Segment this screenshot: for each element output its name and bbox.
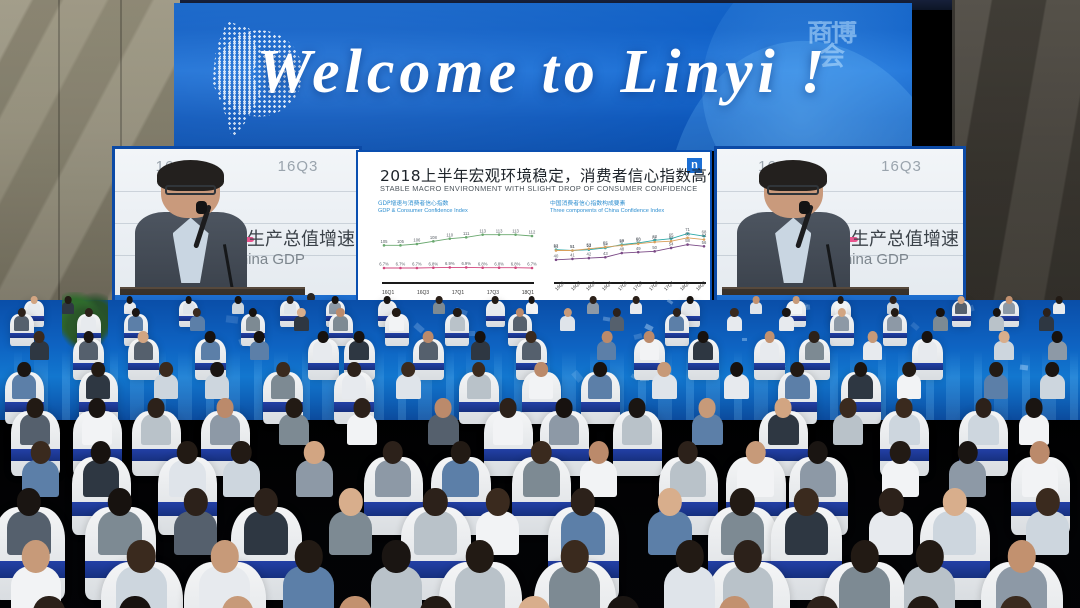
audience-member-head bbox=[718, 596, 751, 608]
audience-member-head bbox=[33, 596, 66, 608]
chair-sash bbox=[445, 333, 469, 339]
audience-member-head bbox=[764, 331, 775, 343]
audience-member-head bbox=[516, 308, 524, 318]
audience-member bbox=[244, 488, 288, 555]
audience-member-torso bbox=[640, 341, 659, 360]
audience-member-head bbox=[472, 362, 486, 378]
audience-member bbox=[984, 362, 1008, 399]
audience-member-head bbox=[31, 296, 38, 304]
microphone-icon bbox=[799, 201, 810, 214]
audience-member-torso bbox=[1048, 341, 1067, 360]
audience-member-torso bbox=[669, 316, 684, 331]
glasses-icon bbox=[767, 185, 819, 195]
audience-member-torso bbox=[244, 511, 288, 555]
audience-member bbox=[640, 331, 659, 360]
pane-subtitle-cn: GDP增速与消费者信心指数 bbox=[378, 198, 538, 207]
gdp-label-en: China GDP bbox=[229, 252, 355, 268]
audience-member-head bbox=[159, 362, 173, 378]
banner-title: Welcome to Linyi ! bbox=[174, 37, 912, 108]
audience-member bbox=[271, 362, 295, 399]
audience-member-torso bbox=[760, 341, 779, 360]
audience-member-torso bbox=[329, 511, 373, 555]
audience-member-head bbox=[347, 362, 361, 378]
audience-member-torso bbox=[333, 316, 348, 331]
audience-member bbox=[232, 296, 244, 314]
audience-member-torso bbox=[342, 374, 366, 399]
audience-member bbox=[669, 308, 684, 331]
audience-member-head bbox=[485, 488, 509, 516]
audience-member-head bbox=[879, 488, 903, 516]
audience-member bbox=[760, 331, 779, 360]
audience-member-torso bbox=[848, 374, 872, 399]
audience-member bbox=[785, 362, 809, 399]
audience-member-head bbox=[127, 540, 155, 573]
audience-member-torso bbox=[190, 316, 205, 331]
audience-member-head bbox=[383, 441, 404, 465]
audience-member-head bbox=[466, 540, 494, 573]
audience-member bbox=[894, 596, 953, 608]
audience-member-torso bbox=[1003, 302, 1015, 314]
audience-member-head bbox=[687, 296, 694, 304]
svg-text:112: 112 bbox=[529, 230, 536, 235]
audience-member-torso bbox=[349, 341, 368, 360]
audience-member-head bbox=[922, 331, 933, 343]
audience-member-head bbox=[837, 296, 844, 304]
audience-member-head bbox=[205, 331, 216, 343]
chair-sash bbox=[883, 333, 907, 339]
audience-member bbox=[833, 398, 863, 444]
audience-member-head bbox=[338, 488, 362, 516]
svg-text:64: 64 bbox=[702, 233, 707, 238]
audience-member-head bbox=[423, 331, 434, 343]
audience-member bbox=[471, 331, 490, 360]
audience-member bbox=[296, 441, 333, 497]
audience-member-head bbox=[420, 596, 453, 608]
chair-sash bbox=[688, 363, 719, 370]
audience-member bbox=[887, 308, 902, 331]
audience-member-head bbox=[210, 362, 224, 378]
audience-member bbox=[692, 398, 722, 444]
audience-member-head bbox=[382, 540, 410, 573]
audience-member bbox=[805, 331, 824, 360]
microphone-icon bbox=[196, 201, 207, 214]
audience-member bbox=[294, 308, 309, 331]
audience-member bbox=[549, 398, 579, 444]
audience-member-head bbox=[453, 308, 461, 318]
audience-member-torso bbox=[296, 460, 333, 497]
audience-member-torso bbox=[727, 316, 742, 331]
audience-member-head bbox=[83, 331, 94, 343]
pane-subtitle-en: Three components of China Confidence Ind… bbox=[550, 208, 710, 214]
audience-member bbox=[208, 596, 267, 608]
audience-member-torso bbox=[467, 374, 491, 399]
audience-member bbox=[933, 308, 948, 331]
audience-member-torso bbox=[622, 414, 652, 445]
audience-member-head bbox=[791, 362, 805, 378]
audience-member bbox=[994, 331, 1013, 360]
audience-member bbox=[989, 308, 1004, 331]
audience-member bbox=[987, 596, 1046, 608]
audience-member bbox=[727, 308, 742, 331]
audience-member-torso bbox=[493, 414, 523, 445]
audience-member-head bbox=[138, 331, 149, 343]
audience-member-torso bbox=[28, 302, 40, 314]
audience-member-torso bbox=[128, 316, 143, 331]
audience-seating bbox=[0, 278, 1080, 608]
audience-member bbox=[1003, 296, 1015, 314]
audience-member bbox=[968, 398, 998, 444]
audience-member bbox=[313, 331, 332, 360]
audience-member bbox=[529, 362, 553, 399]
audience-member-head bbox=[17, 488, 41, 516]
audience-member bbox=[513, 308, 528, 331]
audience-member bbox=[375, 441, 412, 497]
audience-member bbox=[30, 331, 49, 360]
audience-member-torso bbox=[897, 374, 921, 399]
audience-member-head bbox=[254, 331, 265, 343]
audience-member-head bbox=[528, 296, 535, 304]
audience-member bbox=[329, 488, 373, 555]
audience-member-head bbox=[1052, 331, 1063, 343]
chair-sash bbox=[754, 363, 785, 370]
svg-text:6.8%: 6.8% bbox=[478, 261, 488, 266]
audience-member-head bbox=[1043, 308, 1051, 318]
chair-sash bbox=[613, 449, 662, 461]
audience-member-torso bbox=[134, 341, 153, 360]
audience-member-head bbox=[231, 441, 252, 465]
audience-member bbox=[705, 596, 764, 608]
audience-member bbox=[28, 296, 40, 314]
audience-member-head bbox=[185, 296, 192, 304]
audience-member bbox=[201, 331, 220, 360]
audience-member bbox=[389, 308, 404, 331]
audience-member-head bbox=[17, 362, 31, 378]
audience-member-torso bbox=[587, 302, 599, 314]
audience-member-head bbox=[401, 362, 415, 378]
audience-member-head bbox=[613, 308, 621, 318]
audience-member-head bbox=[588, 441, 609, 465]
svg-text:51: 51 bbox=[570, 244, 575, 249]
quarter-label: 16Q3 bbox=[278, 158, 319, 175]
svg-text:61: 61 bbox=[652, 236, 657, 241]
audience-member-head bbox=[958, 296, 965, 304]
audience-member-torso bbox=[81, 316, 96, 331]
audience-member-torso bbox=[1039, 316, 1054, 331]
audience-member bbox=[587, 296, 599, 314]
welcome-banner: 商博会 Welcome to Linyi ! bbox=[174, 3, 912, 151]
audience-member bbox=[597, 331, 616, 360]
audience-member-head bbox=[91, 362, 105, 378]
audience-member-head bbox=[808, 441, 829, 465]
audience-member-head bbox=[65, 296, 72, 304]
audience-member bbox=[326, 596, 385, 608]
audience-member-head bbox=[1045, 362, 1059, 378]
audience-member bbox=[1039, 308, 1054, 331]
audience-member-head bbox=[534, 362, 548, 378]
audience-member-head bbox=[297, 308, 305, 318]
audience-member bbox=[523, 441, 560, 497]
audience-member bbox=[20, 398, 50, 444]
audience-member-head bbox=[602, 331, 613, 343]
audience-member bbox=[79, 331, 98, 360]
audience-member-head bbox=[354, 331, 365, 343]
svg-text:42: 42 bbox=[587, 252, 592, 257]
audience-member bbox=[724, 362, 748, 399]
audience-member-head bbox=[907, 596, 940, 608]
audience-member bbox=[793, 596, 852, 608]
audience-member-head bbox=[850, 540, 878, 573]
gdp-cci-plot: 1051051061081101111131131131126.7%6.7%6.… bbox=[378, 218, 538, 284]
svg-text:6.7%: 6.7% bbox=[412, 262, 422, 267]
audience-member bbox=[450, 308, 465, 331]
audience-member-head bbox=[492, 296, 499, 304]
audience-member-head bbox=[531, 441, 552, 465]
audience-member-head bbox=[85, 308, 93, 318]
svg-text:113: 113 bbox=[479, 228, 486, 233]
audience-member-head bbox=[752, 296, 759, 304]
audience-member bbox=[210, 398, 240, 444]
audience-member-torso bbox=[489, 302, 501, 314]
svg-text:110: 110 bbox=[446, 232, 453, 237]
audience-member-torso bbox=[232, 302, 244, 314]
svg-text:41: 41 bbox=[570, 253, 575, 258]
audience-member-torso bbox=[918, 341, 937, 360]
svg-text:43: 43 bbox=[603, 251, 608, 256]
audience-member-torso bbox=[30, 341, 49, 360]
audience-member bbox=[768, 398, 798, 444]
svg-text:6.8%: 6.8% bbox=[429, 261, 439, 266]
audience-member-head bbox=[989, 362, 1003, 378]
audience-member bbox=[1053, 296, 1065, 314]
pane-subtitle-cn: 中国消费者信心指数构成要素 bbox=[550, 198, 710, 207]
audience-member-torso bbox=[1053, 302, 1065, 314]
audience-member bbox=[693, 331, 712, 360]
audience-member-head bbox=[942, 488, 966, 516]
audience-member-torso bbox=[529, 374, 553, 399]
svg-text:66: 66 bbox=[685, 231, 690, 236]
audience-member-head bbox=[891, 308, 899, 318]
audience-member-torso bbox=[887, 316, 902, 331]
audience-member-head bbox=[867, 331, 878, 343]
svg-text:6.9%: 6.9% bbox=[445, 261, 455, 266]
audience-member-torso bbox=[86, 374, 110, 399]
audience-member bbox=[863, 331, 882, 360]
audience-member-head bbox=[1056, 296, 1063, 304]
chair-sash bbox=[952, 316, 971, 321]
audience-member bbox=[20, 596, 79, 608]
audience-member-head bbox=[571, 488, 595, 516]
svg-text:113: 113 bbox=[512, 228, 519, 233]
audience-member-head bbox=[745, 441, 766, 465]
quarter-label: 16Q3 bbox=[881, 158, 922, 175]
audience-member bbox=[407, 596, 466, 608]
audience-member bbox=[433, 296, 445, 314]
audience-member-head bbox=[210, 540, 238, 573]
audience-member bbox=[889, 398, 919, 444]
audience-member-torso bbox=[79, 341, 98, 360]
audience-member-torso bbox=[863, 341, 882, 360]
svg-text:6.7%: 6.7% bbox=[379, 262, 389, 267]
audience-member-head bbox=[916, 540, 944, 573]
audience-member bbox=[560, 308, 575, 331]
audience-member bbox=[750, 296, 762, 314]
svg-text:50: 50 bbox=[652, 245, 657, 250]
audience-member-torso bbox=[14, 316, 29, 331]
audience-member bbox=[428, 398, 458, 444]
audience-member-head bbox=[317, 331, 328, 343]
audience-member bbox=[955, 296, 967, 314]
audience-member-torso bbox=[205, 374, 229, 399]
audience-member-torso bbox=[389, 316, 404, 331]
audience-member-head bbox=[730, 488, 754, 516]
audience-member-head bbox=[734, 540, 762, 573]
audience-member-head bbox=[235, 296, 242, 304]
svg-text:59: 59 bbox=[636, 237, 641, 242]
audience-member-head bbox=[475, 331, 486, 343]
audience-member-head bbox=[633, 296, 640, 304]
audience-member-torso bbox=[313, 341, 332, 360]
audience-member-head bbox=[730, 362, 744, 378]
svg-text:6.8%: 6.8% bbox=[494, 261, 504, 266]
svg-text:57: 57 bbox=[619, 239, 624, 244]
audience-member bbox=[134, 331, 153, 360]
audience-member-torso bbox=[433, 302, 445, 314]
svg-text:58: 58 bbox=[685, 238, 690, 243]
audience-member bbox=[349, 331, 368, 360]
audience-member-torso bbox=[526, 302, 538, 314]
audience-member-head bbox=[854, 362, 868, 378]
audience-member-head bbox=[678, 441, 699, 465]
svg-text:106: 106 bbox=[413, 238, 421, 243]
audience-member-torso bbox=[560, 316, 575, 331]
audience-member-head bbox=[392, 308, 400, 318]
audience-member-torso bbox=[1040, 374, 1064, 399]
chair-sash bbox=[385, 333, 409, 339]
audience-member bbox=[419, 331, 438, 360]
audience-member-torso bbox=[250, 341, 269, 360]
svg-text:108: 108 bbox=[430, 235, 438, 240]
svg-text:6.9%: 6.9% bbox=[461, 261, 471, 266]
audience-member-head bbox=[131, 308, 139, 318]
audience-member-head bbox=[658, 488, 682, 516]
audience-member-head bbox=[221, 596, 254, 608]
audience-member-torso bbox=[750, 302, 762, 314]
audience-member-head bbox=[183, 488, 207, 516]
audience-member bbox=[347, 398, 377, 444]
audience-member-head bbox=[1007, 540, 1035, 573]
audience-member-torso bbox=[834, 316, 849, 331]
audience-member-torso bbox=[294, 316, 309, 331]
audience-member bbox=[779, 308, 794, 331]
audience-member bbox=[684, 296, 696, 314]
audience-member bbox=[1019, 398, 1049, 444]
audience-member-torso bbox=[805, 341, 824, 360]
audience-member-head bbox=[936, 308, 944, 318]
svg-text:56: 56 bbox=[702, 240, 707, 245]
audience-member-torso bbox=[652, 374, 676, 399]
audience-member bbox=[141, 398, 171, 444]
audience-member bbox=[522, 331, 541, 360]
audience-member-torso bbox=[994, 341, 1013, 360]
svg-text:40: 40 bbox=[554, 253, 559, 258]
audience-member-head bbox=[673, 308, 681, 318]
audience-member-head bbox=[436, 296, 443, 304]
svg-text:54: 54 bbox=[669, 242, 674, 247]
audience-member-head bbox=[177, 441, 198, 465]
audience-member-head bbox=[698, 331, 709, 343]
audience-member-head bbox=[1036, 488, 1060, 516]
audience-member-head bbox=[30, 441, 51, 465]
audience-member bbox=[279, 398, 309, 444]
audience-member bbox=[396, 362, 420, 399]
audience-member-head bbox=[336, 308, 344, 318]
chair-sash bbox=[486, 316, 505, 321]
audience-member-head bbox=[806, 596, 839, 608]
audience-member-torso bbox=[271, 374, 295, 399]
audience-member bbox=[128, 308, 143, 331]
audience-member-head bbox=[999, 331, 1010, 343]
audience-member-head bbox=[890, 441, 911, 465]
audience-member-torso bbox=[522, 341, 541, 360]
audience-member bbox=[652, 362, 676, 399]
audience-member-torso bbox=[201, 341, 220, 360]
audience-member-head bbox=[276, 362, 290, 378]
audience-member-head bbox=[889, 296, 896, 304]
audience-member-head bbox=[590, 296, 597, 304]
audience-member-torso bbox=[984, 374, 1008, 399]
svg-text:6.8%: 6.8% bbox=[511, 261, 521, 266]
audience-member-head bbox=[809, 331, 820, 343]
audience-member bbox=[588, 362, 612, 399]
glasses-icon bbox=[165, 185, 217, 195]
audience-member-head bbox=[34, 331, 45, 343]
audience-member bbox=[342, 362, 366, 399]
audience-member-head bbox=[560, 540, 588, 573]
audience-member-head bbox=[563, 308, 571, 318]
audience-member bbox=[848, 362, 872, 399]
audience-member-head bbox=[254, 488, 278, 516]
components-plot: 5251525458606365716851515355575961626664… bbox=[550, 218, 710, 284]
audience-member bbox=[505, 596, 564, 608]
audience-member-head bbox=[294, 540, 322, 573]
chair-sash bbox=[581, 402, 620, 411]
svg-text:105: 105 bbox=[397, 239, 405, 244]
audience-member bbox=[526, 296, 538, 314]
audience-member-head bbox=[658, 362, 672, 378]
audience-member bbox=[630, 296, 642, 314]
svg-text:55: 55 bbox=[603, 241, 608, 246]
audience-member bbox=[82, 398, 112, 444]
audience-member-head bbox=[902, 362, 916, 378]
audience-member bbox=[834, 308, 849, 331]
audience-member-torso bbox=[62, 302, 74, 314]
audience-member-torso bbox=[396, 374, 420, 399]
audience-member bbox=[610, 308, 625, 331]
audience-member-head bbox=[1000, 596, 1033, 608]
audience-member-torso bbox=[785, 511, 829, 555]
audience-member-head bbox=[332, 296, 339, 304]
audience-member-head bbox=[838, 308, 846, 318]
audience-member-torso bbox=[588, 374, 612, 399]
audience-member bbox=[106, 596, 165, 608]
audience-member-head bbox=[287, 296, 294, 304]
audience-member bbox=[86, 362, 110, 399]
svg-text:62: 62 bbox=[669, 235, 674, 240]
audience-member-torso bbox=[785, 374, 809, 399]
audience-member bbox=[14, 308, 29, 331]
audience-member-torso bbox=[933, 316, 948, 331]
audience-member-torso bbox=[955, 302, 967, 314]
